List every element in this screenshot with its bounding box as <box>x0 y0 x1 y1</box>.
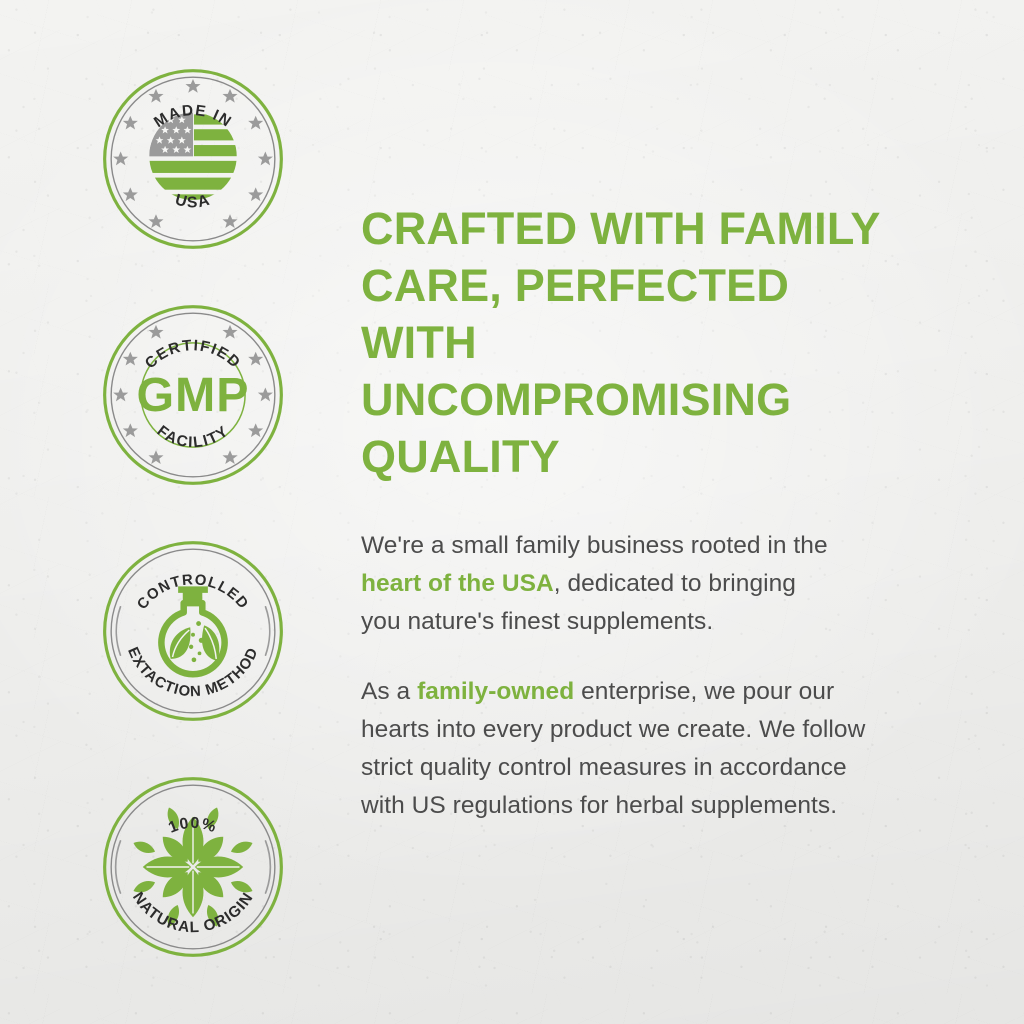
usa-flag-circle-icon <box>137 112 250 206</box>
badge-bottom-text: FACILITY <box>154 422 233 451</box>
marketing-copy-column: CRAFTED WITH FAMILY CARE, PERFECTED WITH… <box>361 200 931 825</box>
flask-leaf-icon <box>161 586 224 674</box>
badge-natural-origin: 100% NATURAL ORIGIN <box>100 774 286 960</box>
badge-gmp-certified-facility: GMP CERTIFIED FACILITY <box>100 302 286 488</box>
badge-bottom-text: USA <box>173 191 213 211</box>
badge-controlled-extaction-method: CONTROLLED EXTACTION METHOD <box>100 538 286 724</box>
badge-top-text: MADE IN <box>151 102 235 131</box>
highlighted-phrase: family-owned <box>417 678 574 705</box>
badge-center-text: GMP <box>137 368 250 422</box>
body-paragraph-2: As a family-owned enterprise, we pour ou… <box>361 673 886 825</box>
certification-badge-column: MADE IN USA <box>100 66 288 1010</box>
badge-made-in-usa: MADE IN USA <box>100 66 286 252</box>
page-title: CRAFTED WITH FAMILY CARE, PERFECTED WITH… <box>361 200 916 485</box>
body-paragraph-1: We're a small family business rooted in … <box>361 527 831 641</box>
promo-graphic: MADE IN USA <box>0 0 1024 1024</box>
highlighted-phrase: heart of the USA <box>361 570 554 597</box>
